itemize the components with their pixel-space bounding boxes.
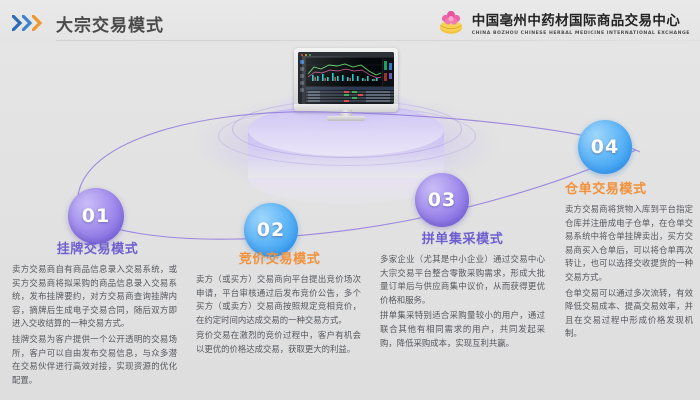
slide-canvas: 大宗交易模式 中国亳州中药材国际商品交易中心 CHINA BOZHO — [0, 0, 700, 400]
node-04[interactable]: 04 — [578, 120, 632, 174]
node-03[interactable]: 03 — [415, 173, 469, 227]
section-03-paragraph-1: 多家企业（尤其是中小企业）通过交易中心大宗交易平台整合零散采购需求，形成大批量订… — [380, 253, 545, 307]
trading-terminal-monitor — [294, 48, 398, 122]
logo-name-en: CHINA BOZHOU CHINESE HERBAL MEDICINE INT… — [472, 31, 690, 36]
slide-header: 大宗交易模式 中国亳州中药材国际商品交易中心 CHINA BOZHO — [0, 0, 700, 44]
section-04-paragraph-1: 卖方交易商将货物入库到平台指定仓库并注册成电子仓单，在仓单交易系统中将仓单挂牌卖… — [565, 203, 693, 285]
header-divider — [56, 40, 700, 41]
chevron-orange-icon — [32, 15, 41, 29]
chevron-group — [12, 13, 48, 31]
screen-titlebar — [298, 52, 394, 57]
screen-depth-panel — [383, 58, 394, 86]
section-03-title: 拼单集采模式 — [380, 228, 545, 247]
section-03-paragraph-2: 拼单集采特别适合采购量较小的用户，通过联合其他有相同需求的用户，共同发起采购，降… — [380, 309, 545, 350]
screen-price-chart — [306, 58, 382, 86]
section-01: 挂牌交易模式 卖方交易商自有商品信息录入交易系统，或买方交易商将拟采购的商品信息… — [12, 238, 177, 389]
logo-flower-bowl-icon — [436, 7, 466, 37]
node-01-number: 01 — [82, 205, 110, 227]
logo-name-cn: 中国亳州中药材国际商品交易中心 — [472, 9, 690, 29]
section-04-title: 仓单交易模式 — [565, 178, 693, 197]
section-02-paragraph-1: 卖方（或买方）交易商向平台提出竞价场次申请，平台审核通过后发布竞价公告，多个买方… — [196, 273, 361, 327]
chevron-blue-icon-2 — [22, 15, 31, 29]
section-04-paragraph-2: 仓单交易可以通过多次流转，有效降低交易成本、提高交易效率，并且在交易过程中形成价… — [565, 287, 693, 341]
section-01-title: 挂牌交易模式 — [12, 238, 177, 257]
screen-quote-table — [306, 87, 394, 104]
page-title: 大宗交易模式 — [56, 11, 164, 36]
section-03-body: 多家企业（尤其是中小企业）通过交易中心大宗交易平台整合零散采购需求，形成大批量订… — [380, 253, 545, 350]
section-02-body: 卖方（或买方）交易商向平台提出竞价场次申请，平台审核通过后发布竞价公告，多个买方… — [196, 273, 361, 357]
section-01-paragraph-1: 卖方交易商自有商品信息录入交易系统，或买方交易商将拟采购的商品信息录入交易系统，… — [12, 263, 177, 331]
node-01[interactable]: 01 — [68, 188, 124, 244]
section-01-paragraph-2: 挂牌交易为客户提供一个公开透明的交易场所，客户可以自由发布交易信息，与众多潜在交… — [12, 333, 177, 387]
node-04-number: 04 — [591, 136, 619, 158]
monitor-screen — [298, 52, 394, 104]
logo-text-block: 中国亳州中药材国际商品交易中心 CHINA BOZHOU CHINESE HER… — [472, 9, 690, 36]
section-01-body: 卖方交易商自有商品信息录入交易系统，或买方交易商将拟采购的商品信息录入交易系统，… — [12, 263, 177, 387]
monitor-base — [327, 116, 365, 121]
section-04-body: 卖方交易商将货物入库到平台指定仓库并注册成电子仓单，在仓单交易系统中将仓单挂牌卖… — [565, 203, 693, 341]
section-02-title: 竞价交易模式 — [196, 248, 361, 267]
screen-sidebar — [298, 57, 305, 104]
section-02-paragraph-2: 竞价交易在激烈的竞价过程中，客户有机会以更优的价格达成交易，获取更大的利益。 — [196, 329, 361, 356]
chevron-blue-icon-1 — [12, 15, 21, 29]
section-03: 拼单集采模式 多家企业（尤其是中小企业）通过交易中心大宗交易平台整合零散采购需求… — [380, 228, 545, 352]
brand-logo: 中国亳州中药材国际商品交易中心 CHINA BOZHOU CHINESE HER… — [436, 5, 690, 39]
node-02-number: 02 — [257, 219, 285, 241]
section-04: 仓单交易模式 卖方交易商将货物入库到平台指定仓库并注册成电子仓单，在仓单交易系统… — [565, 178, 693, 343]
section-02: 竞价交易模式 卖方（或买方）交易商向平台提出竞价场次申请，平台审核通过后发布竞价… — [196, 248, 361, 359]
node-03-number: 03 — [428, 189, 456, 211]
